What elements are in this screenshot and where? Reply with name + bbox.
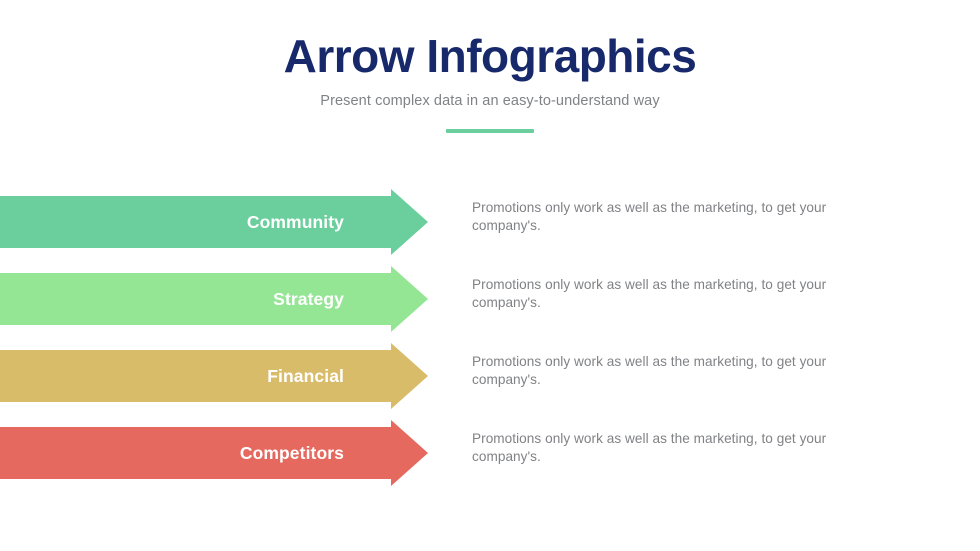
arrow-description-community: Promotions only work as well as the mark…: [472, 199, 844, 235]
arrow-list: Community Promotions only work as well a…: [0, 196, 980, 479]
page-title: Arrow Infographics: [0, 32, 980, 80]
arrow-description-strategy: Promotions only work as well as the mark…: [472, 276, 844, 312]
arrow-shape-strategy: [0, 266, 430, 332]
page-subtitle: Present complex data in an easy-to-under…: [0, 93, 980, 110]
arrow-path: [0, 420, 428, 486]
accent-divider: [446, 129, 534, 133]
arrow-row[interactable]: Community Promotions only work as well a…: [0, 196, 980, 248]
arrow-shape-financial: [0, 343, 430, 409]
arrow-shape-competitors: [0, 420, 430, 486]
arrow-row[interactable]: Competitors Promotions only work as well…: [0, 427, 980, 479]
arrow-path: [0, 343, 428, 409]
arrow-row[interactable]: Financial Promotions only work as well a…: [0, 350, 980, 402]
slide-canvas: Arrow Infographics Present complex data …: [0, 0, 980, 551]
arrow-row[interactable]: Strategy Promotions only work as well as…: [0, 273, 980, 325]
arrow-path: [0, 266, 428, 332]
arrow-description-competitors: Promotions only work as well as the mark…: [472, 430, 844, 466]
header: Arrow Infographics Present complex data …: [0, 32, 980, 133]
arrow-description-financial: Promotions only work as well as the mark…: [472, 353, 844, 389]
arrow-path: [0, 189, 428, 255]
arrow-shape-community: [0, 189, 430, 255]
